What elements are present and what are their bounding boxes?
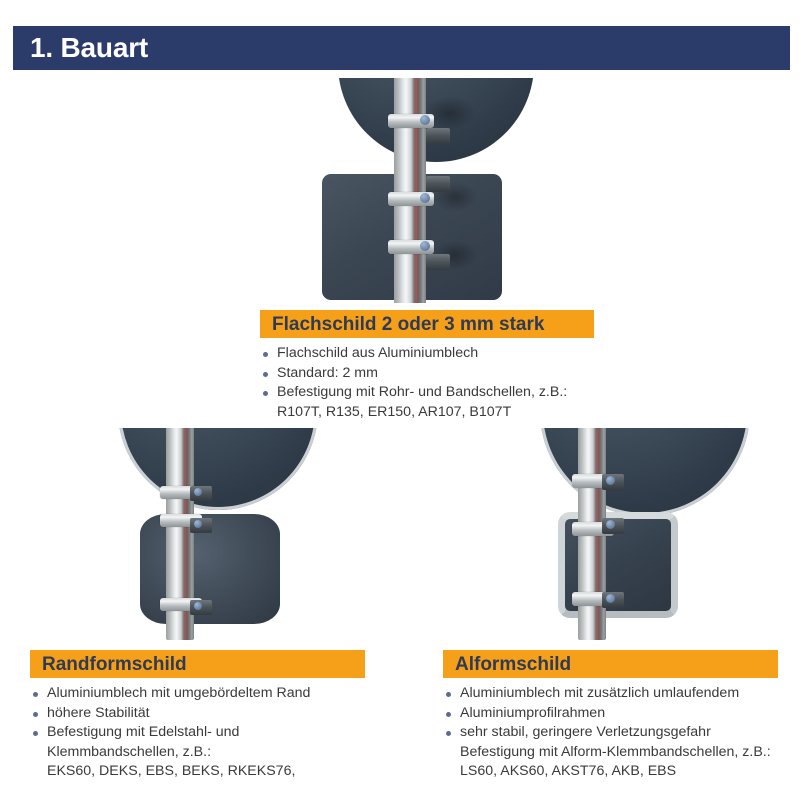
- bullet-text: Standard: 2 mm: [277, 365, 378, 381]
- clamp-tab-2: [426, 176, 450, 192]
- clamp-bolt-1: [420, 115, 430, 125]
- list-item: höhere Stabilität: [30, 704, 420, 724]
- list-item: Aluminiumblech mit umgebördeltem Rand: [30, 684, 420, 704]
- sign-post-pole: [394, 78, 426, 303]
- bullet-subtext: Befestigung mit Alform-Klemmbandschellen…: [460, 743, 800, 782]
- bullet-text: Aluminiumprofilrahmen: [460, 705, 605, 721]
- list-item: Aluminiumblech mit zusätzlich umlaufende…: [443, 684, 800, 704]
- page-header-bar: 1. Bauart: [13, 26, 790, 70]
- list-item: Aluminiumprofilrahmen: [443, 704, 800, 724]
- photo-randformschild: [18, 428, 348, 640]
- photo-alformschild: [448, 428, 778, 640]
- caption-label-randformschild: Randformschild: [30, 655, 187, 674]
- pole-seam: [412, 78, 419, 303]
- caption-bar-flachschild: Flachschild 2 oder 3 mm stark: [260, 310, 594, 338]
- page-title: 1. Bauart: [13, 34, 148, 62]
- clamp-bolt-2: [194, 520, 202, 528]
- clamp-bolt-3: [194, 602, 202, 610]
- list-item: Flachschild aus Aluminiumblech: [260, 344, 660, 364]
- info-block-alformschild: Alformschild Aluminiumblech mit zusätzli…: [443, 650, 800, 782]
- round-sign-top: [540, 428, 750, 516]
- clamp-bolt-1: [606, 476, 615, 485]
- info-block-flachschild: Flachschild 2 oder 3 mm stark Flachschil…: [260, 310, 660, 422]
- bullet-subtext: R107T, R135, ER150, AR107, B107T: [277, 403, 660, 423]
- bullet-text: Befestigung mit Edelstahl- und: [47, 724, 239, 740]
- clamp-bolt-3: [606, 594, 615, 603]
- clamp-bolt-2: [606, 520, 615, 529]
- clamp-tab-3: [426, 254, 450, 270]
- bullet-text: Aluminiumblech mit umgebördeltem Rand: [47, 685, 310, 701]
- bullet-text: Flachschild aus Aluminiumblech: [277, 345, 478, 361]
- caption-bar-alformschild: Alformschild: [443, 650, 778, 678]
- bullet-list-randformschild: Aluminiumblech mit umgebördeltem Rand hö…: [30, 684, 420, 782]
- bullet-list-alformschild: Aluminiumblech mit zusätzlich umlaufende…: [443, 684, 800, 782]
- clamp-bolt-1: [194, 488, 202, 496]
- bullet-list-flachschild: Flachschild aus Aluminiumblech Standard:…: [260, 344, 660, 422]
- caption-label-alformschild: Alformschild: [443, 655, 571, 674]
- bullet-text: Aluminiumblech mit zusätzlich umlaufende…: [460, 685, 739, 701]
- list-item: Befestigung mit Rohr- und Bandschellen, …: [260, 383, 660, 422]
- list-item: Standard: 2 mm: [260, 364, 660, 384]
- clamp-tab-1: [426, 128, 450, 144]
- round-sign-top: [118, 428, 318, 510]
- bullet-text: höhere Stabilität: [47, 705, 150, 721]
- caption-bar-randformschild: Randformschild: [30, 650, 365, 678]
- list-item: sehr stabil, geringere Verletzungsgefahr…: [443, 723, 800, 782]
- bullet-text: sehr stabil, geringere Verletzungsgefahr: [460, 724, 711, 740]
- clamp-bolt-2: [420, 193, 430, 203]
- list-item: Befestigung mit Edelstahl- und Klemmband…: [30, 723, 420, 782]
- caption-label-flachschild: Flachschild 2 oder 3 mm stark: [260, 315, 544, 334]
- info-block-randformschild: Randformschild Aluminiumblech mit umgebö…: [30, 650, 420, 782]
- photo-flachschild: [262, 78, 602, 303]
- bullet-subtext: Klemmbandschellen, z.B.:EKS60, DEKS, EBS…: [47, 743, 420, 782]
- bullet-text: Befestigung mit Rohr- und Bandschellen, …: [277, 384, 567, 400]
- clamp-bolt-3: [420, 241, 430, 251]
